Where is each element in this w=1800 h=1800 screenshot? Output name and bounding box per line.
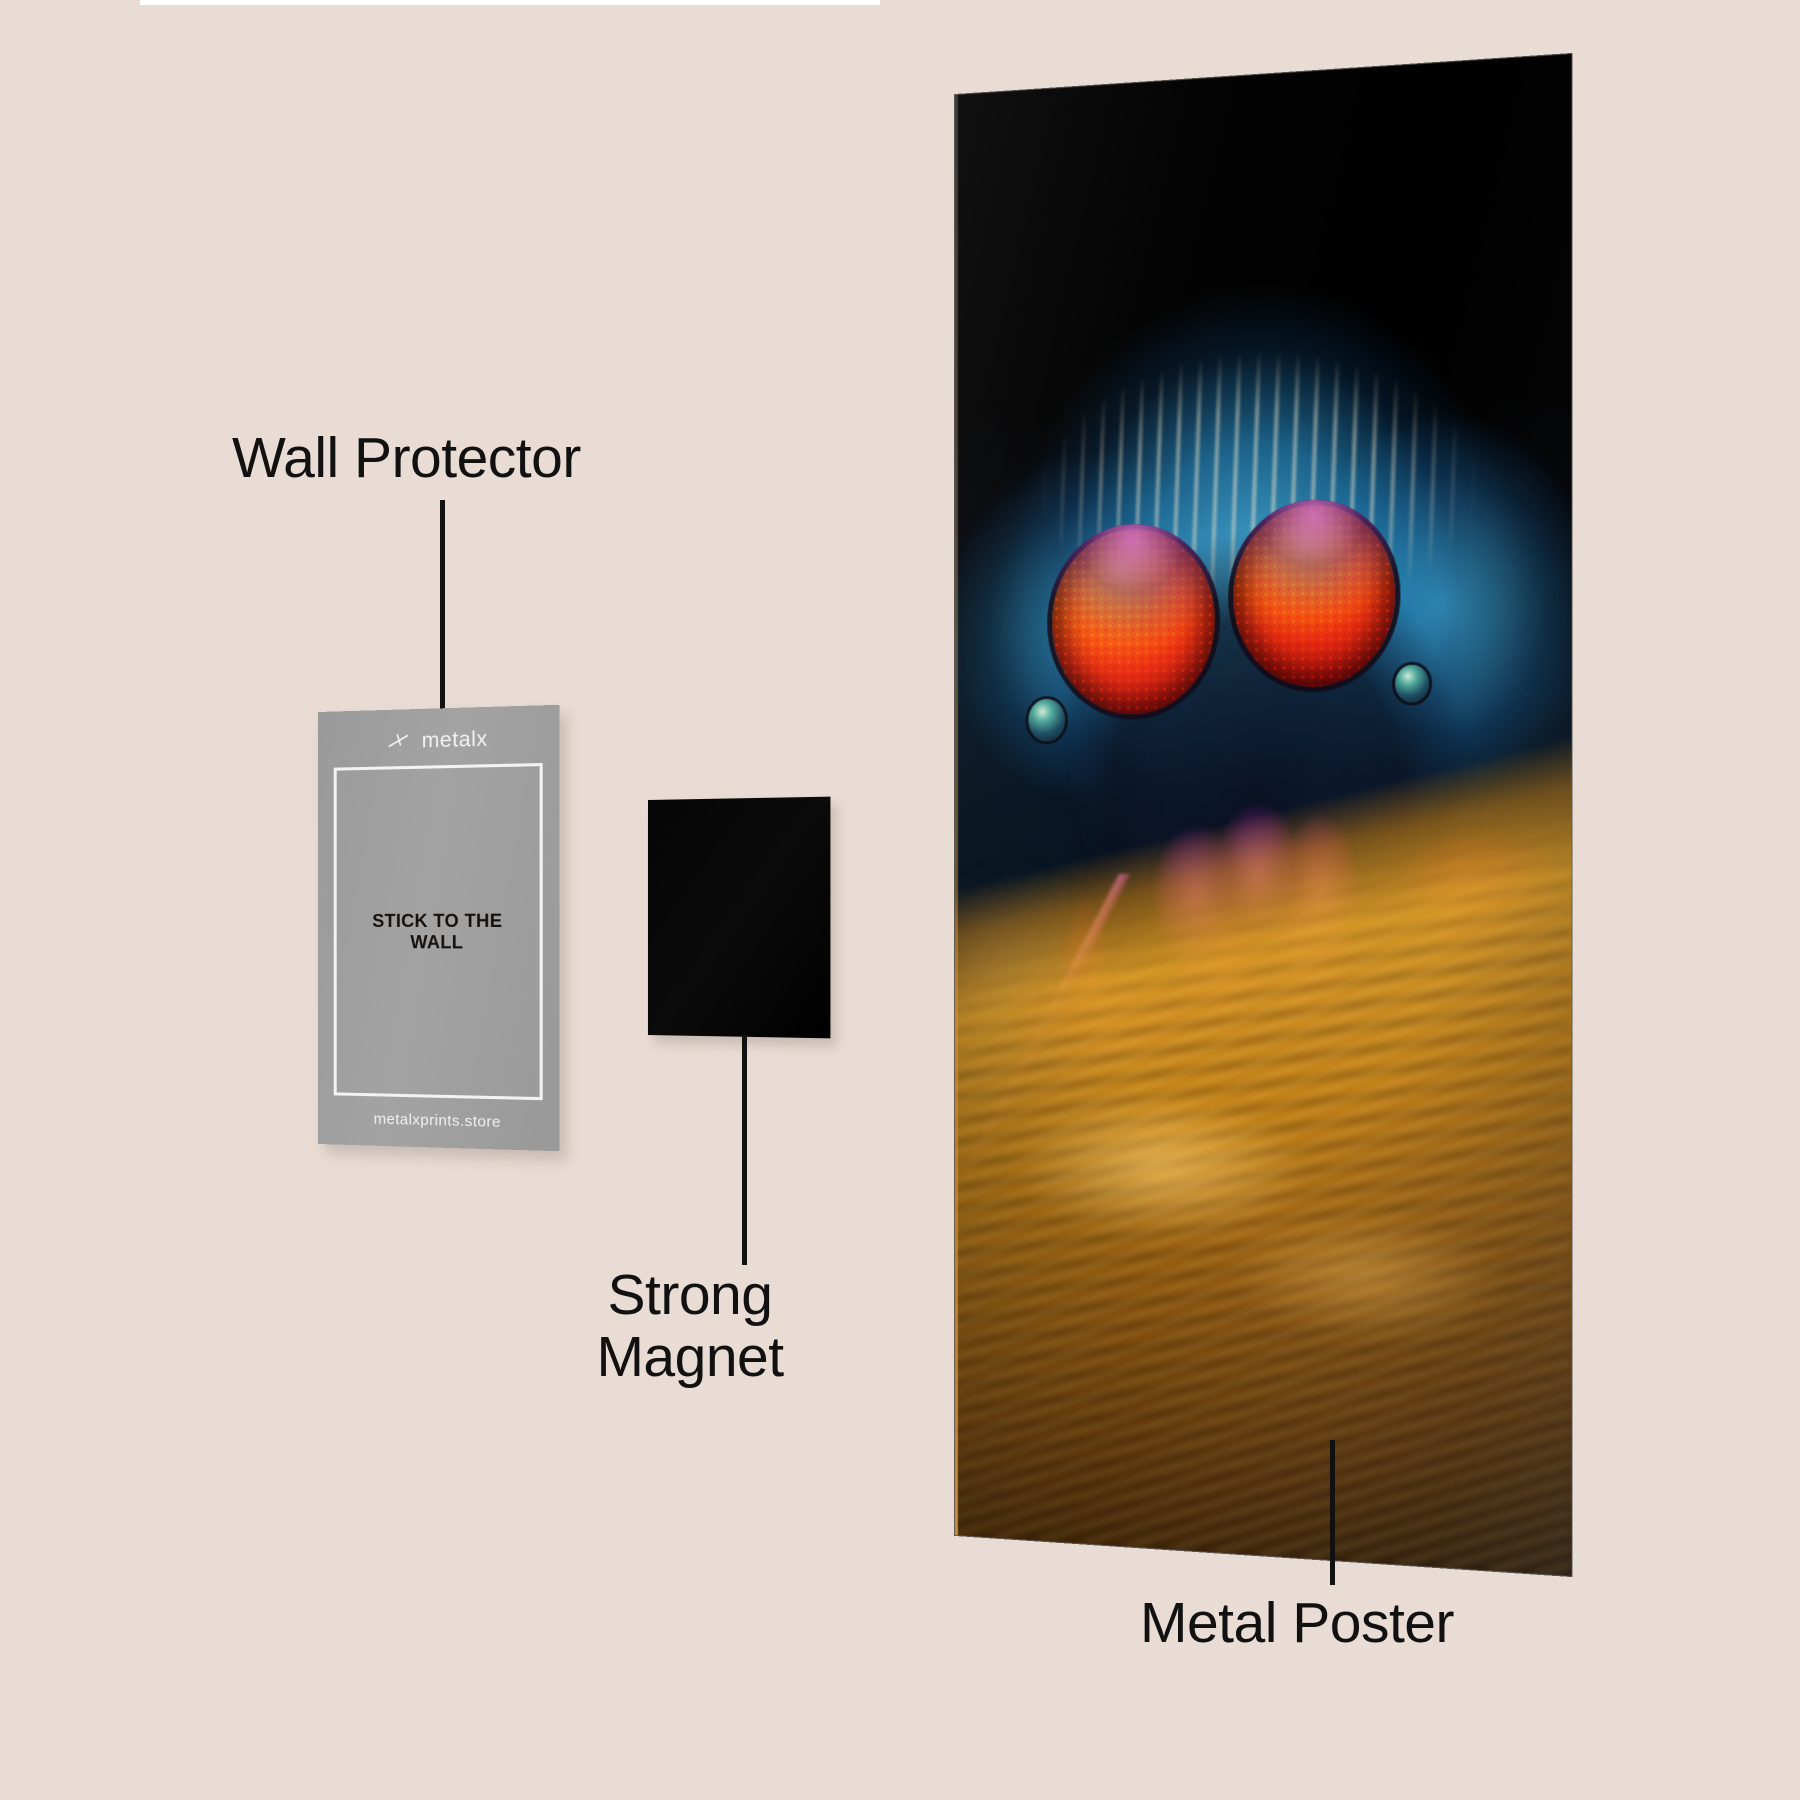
strong-magnet-label-line-1: Strong (608, 1263, 773, 1327)
magnet-face (648, 797, 830, 1039)
wall-protector-card-face: metalx STICK TO THE WALL metalxprints.st… (318, 705, 559, 1151)
wall-protector-leader-line (440, 500, 445, 715)
strong-magnet[interactable] (648, 800, 828, 1035)
top-white-strip (140, 0, 880, 5)
strong-magnet-label: Strong Magnet (560, 1265, 820, 1388)
card-brand-name: metalx (422, 727, 488, 753)
metal-poster-label: Metal Poster (1140, 1590, 1454, 1656)
metal-surface-sheen (955, 54, 1572, 1576)
metal-poster[interactable] (955, 54, 1572, 1576)
metalx-cross-logo-icon (386, 731, 412, 752)
card-call-to-action: STICK TO THE WALL (347, 910, 530, 953)
metal-poster-face (955, 54, 1572, 1576)
wall-protector-card[interactable]: metalx STICK TO THE WALL metalxprints.st… (318, 712, 556, 1144)
card-inner-frame: STICK TO THE WALL (334, 763, 543, 1100)
card-brand-lockup: metalx (386, 727, 487, 754)
metal-poster-leader-line (1330, 1440, 1335, 1585)
product-infographic-canvas: Wall Protector metalx STICK TO THE WALL … (0, 0, 1800, 1800)
wall-protector-label: Wall Protector (232, 425, 581, 491)
strong-magnet-leader-line (742, 1035, 747, 1265)
strong-magnet-label-line-2: Magnet (596, 1325, 783, 1389)
poster-left-edge-highlight (955, 95, 958, 1535)
card-website-url: metalxprints.store (374, 1110, 501, 1131)
